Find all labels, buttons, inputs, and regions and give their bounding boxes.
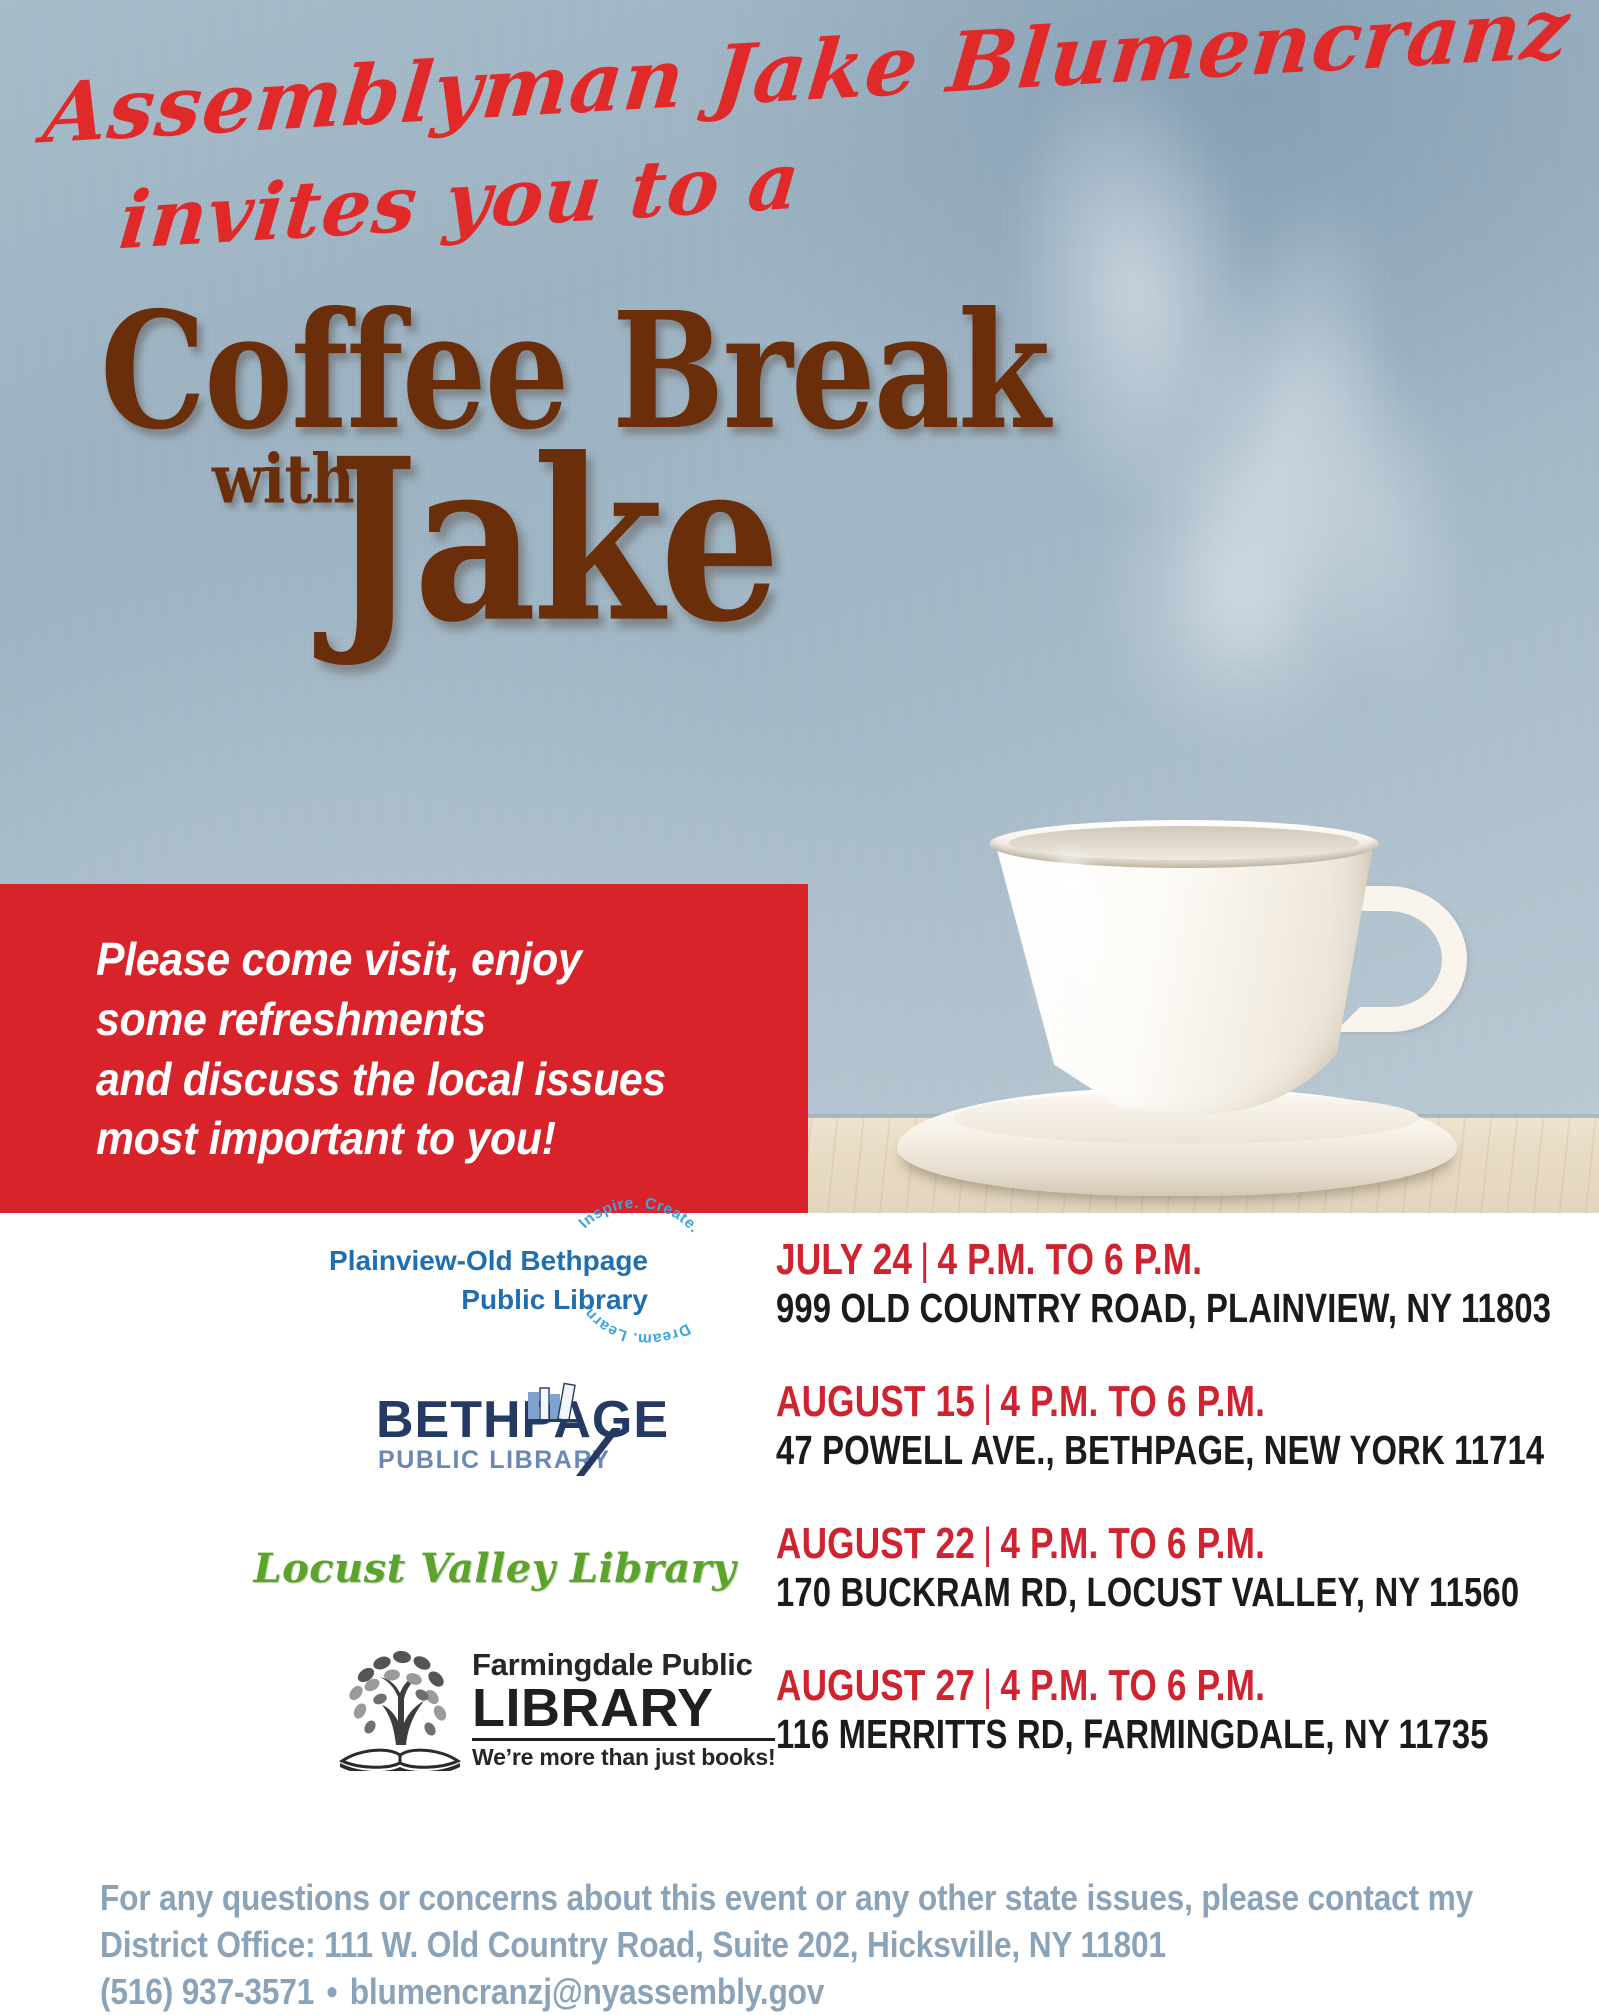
event-time: 4 P.M. TO 6 P.M. [1000, 1661, 1265, 1710]
event-time: 4 P.M. TO 6 P.M. [1000, 1519, 1265, 1568]
event-date: JULY 24 [776, 1235, 912, 1284]
farmingdale-tagline: We’re more than just books! [472, 1744, 775, 1772]
plainview-tagline-lower: Dream. Learn. [577, 1301, 693, 1348]
bethpage-public-library-logo: BETHPAGE PUBLIC LIBRARY [376, 1374, 736, 1478]
plainview-circular-tagline: Inspire. Create. Dream. Learn. [576, 1216, 736, 1352]
steam-wisp-icon [1128, 165, 1432, 715]
event-row: Plainview-Old Bethpage Public Library In… [0, 1213, 1599, 1355]
event-date: AUGUST 27 [776, 1661, 975, 1710]
swoosh-icon [572, 1426, 642, 1478]
plainview-old-bethpage-public-library-logo: Plainview-Old Bethpage Public Library In… [316, 1216, 736, 1352]
library-logo-cell: Locust Valley Library [0, 1497, 760, 1639]
farmingdale-name-line-2: LIBRARY [472, 1680, 775, 1741]
callout-text: Please come visit, enjoy some refreshmen… [96, 930, 738, 1169]
event-row: Farmingdale Public LIBRARY We’re more th… [0, 1639, 1599, 1781]
event-list: Plainview-Old Bethpage Public Library In… [0, 1213, 1599, 1781]
event-date: AUGUST 15 [776, 1377, 975, 1426]
event-row: Locust Valley Library AUGUST 22|4 P.M. T… [0, 1497, 1599, 1639]
event-info-cell: AUGUST 22|4 P.M. TO 6 P.M. 170 BUCKRAM R… [760, 1521, 1599, 1616]
event-date-time: JULY 24|4 P.M. TO 6 P.M. [776, 1237, 1551, 1283]
cup-interior-shape [1009, 826, 1359, 860]
footer-email[interactable]: blumencranzj@nyassembly.gov [350, 1971, 825, 2012]
event-address: 170 BUCKRAM RD, LOCUST VALLEY, NY 11560 [776, 1570, 1519, 1615]
callout-line-4: most important to you! [96, 1109, 738, 1169]
title-jake-word: Jake [328, 429, 777, 652]
locust-valley-library-logo: Locust Valley Library [253, 1545, 736, 1592]
event-info-cell: JULY 24|4 P.M. TO 6 P.M. 999 OLD COUNTRY… [760, 1237, 1599, 1332]
farmingdale-public-library-logo: Farmingdale Public LIBRARY We’re more th… [336, 1647, 736, 1773]
event-date: AUGUST 22 [776, 1519, 975, 1568]
callout-line-2: some refreshments [96, 990, 738, 1050]
footer-bullet: • [314, 1971, 350, 2012]
invite-line-2: invites you to a [116, 135, 805, 267]
library-logo-cell: BETHPAGE PUBLIC LIBRARY [0, 1355, 760, 1497]
contact-footer: For any questions or concerns about this… [100, 1875, 1367, 2015]
library-logo-cell: Plainview-Old Bethpage Public Library In… [0, 1213, 760, 1355]
event-separator: | [975, 1661, 1000, 1710]
event-date-time: AUGUST 22|4 P.M. TO 6 P.M. [776, 1521, 1519, 1567]
event-address: 47 POWELL AVE., BETHPAGE, NEW YORK 11714 [776, 1428, 1544, 1473]
tree-and-book-icon [336, 1649, 464, 1771]
callout-red-box: Please come visit, enjoy some refreshmen… [0, 884, 808, 1213]
steam-wisp-icon [1232, 284, 1508, 735]
footer-line-2: District Office: 111 W. Old Country Road… [100, 1922, 1367, 1969]
event-address: 116 MERRITTS RD, FARMINGDALE, NY 11735 [776, 1712, 1489, 1757]
event-info-cell: AUGUST 15|4 P.M. TO 6 P.M. 47 POWELL AVE… [760, 1379, 1599, 1474]
event-info-cell: AUGUST 27|4 P.M. TO 6 P.M. 116 MERRITTS … [760, 1663, 1599, 1758]
footer-contact-line: (516) 937-3571•blumencranzj@nyassembly.g… [100, 1969, 1367, 2015]
cup-highlight [1035, 856, 1105, 1046]
books-icon [524, 1378, 584, 1422]
farmingdale-wordmark: Farmingdale Public LIBRARY We’re more th… [472, 1649, 775, 1772]
page-title: Coffee Break with Jake [100, 296, 1068, 629]
callout-line-1: Please come visit, enjoy [96, 930, 738, 990]
farmingdale-name-line-1: Farmingdale Public [472, 1649, 775, 1680]
event-time: 4 P.M. TO 6 P.M. [937, 1235, 1202, 1284]
library-logo-cell: Farmingdale Public LIBRARY We’re more th… [0, 1639, 760, 1781]
event-row: BETHPAGE PUBLIC LIBRARY AUGUST 15|4 P.M.… [0, 1355, 1599, 1497]
event-address: 999 OLD COUNTRY ROAD, PLAINVIEW, NY 1180… [776, 1286, 1551, 1331]
hero-photo-banner: Assemblyman Jake Blumencranz invites you… [0, 0, 1599, 1213]
event-separator: | [975, 1519, 1000, 1568]
invite-line-1: Assemblyman Jake Blumencranz [39, 0, 1574, 162]
coffee-cup-photo [905, 790, 1465, 1190]
footer-phone[interactable]: (516) 937-3571 [100, 1971, 314, 2012]
event-separator: | [975, 1377, 1000, 1426]
event-time: 4 P.M. TO 6 P.M. [1000, 1377, 1265, 1426]
steam-wisp-icon [1090, 430, 1390, 760]
event-date-time: AUGUST 27|4 P.M. TO 6 P.M. [776, 1663, 1489, 1709]
callout-line-3: and discuss the local issues [96, 1050, 738, 1110]
event-separator: | [912, 1235, 937, 1284]
footer-line-1: For any questions or concerns about this… [100, 1875, 1367, 1922]
event-date-time: AUGUST 15|4 P.M. TO 6 P.M. [776, 1379, 1544, 1425]
